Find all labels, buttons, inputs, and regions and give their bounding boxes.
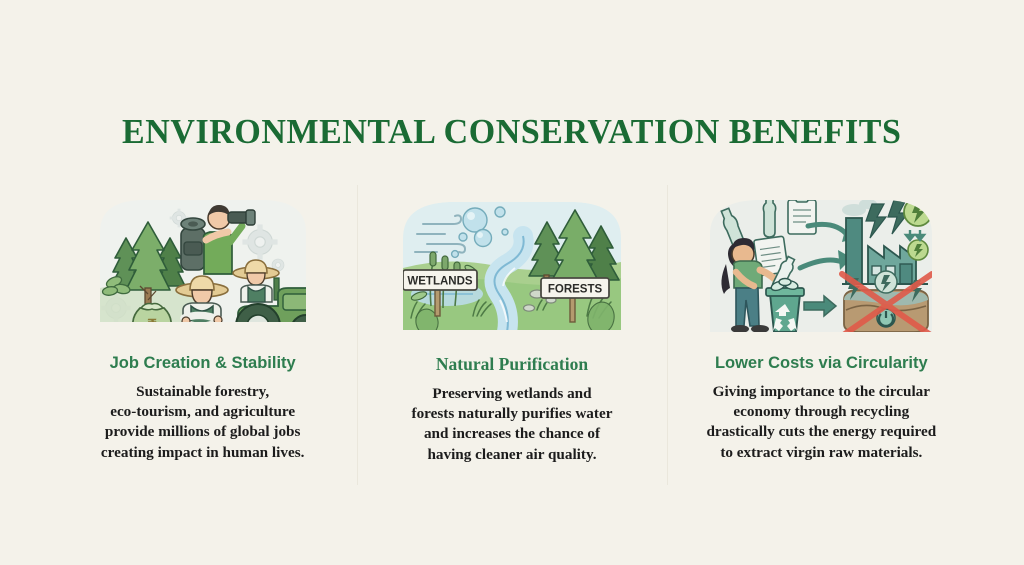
- card-body-natural-purification: Preserving wetlands and forests naturall…: [412, 384, 613, 465]
- card-heading-job-creation: Job Creation & Stability: [110, 354, 296, 373]
- benefit-card-natural-purification: WETLANDS FORESTS Natural Purification Pr…: [357, 190, 666, 465]
- page-title: ENVIRONMENTAL CONSERVATION BENEFITS: [122, 112, 901, 152]
- forestry-jobs-illustration: ₹: [78, 190, 328, 340]
- benefit-card-job-creation: ₹: [48, 190, 357, 463]
- benefit-card-lower-costs: Lower Costs via Circularity Giving impor…: [667, 190, 976, 463]
- wetlands-forests-illustration: WETLANDS FORESTS: [387, 190, 637, 340]
- card-body-lower-costs: Giving importance to the circular econom…: [706, 382, 936, 463]
- binoculars: [228, 210, 255, 225]
- card-body-job-creation: Sustainable forestry, eco-tourism, and a…: [101, 382, 305, 463]
- infographic-page: ENVIRONMENTAL CONSERVATION BENEFITS: [0, 0, 1024, 565]
- backpack: [181, 218, 205, 270]
- card-heading-natural-purification: Natural Purification: [436, 354, 588, 375]
- svg-text:₹: ₹: [147, 318, 157, 334]
- benefit-cards-row: ₹: [48, 190, 976, 465]
- money-bag-rupee: ₹: [133, 304, 171, 341]
- farmer-crossed-arms: [176, 276, 228, 340]
- sign-wetlands-label: WETLANDS: [407, 276, 472, 288]
- page-title-container: ENVIRONMENTAL CONSERVATION BENEFITS: [0, 112, 1024, 152]
- crossed-out-extraction-site: [842, 271, 932, 336]
- sign-forests-label: FORESTS: [548, 284, 603, 296]
- card-heading-lower-costs: Lower Costs via Circularity: [715, 354, 928, 373]
- circular-economy-illustration: [696, 190, 946, 340]
